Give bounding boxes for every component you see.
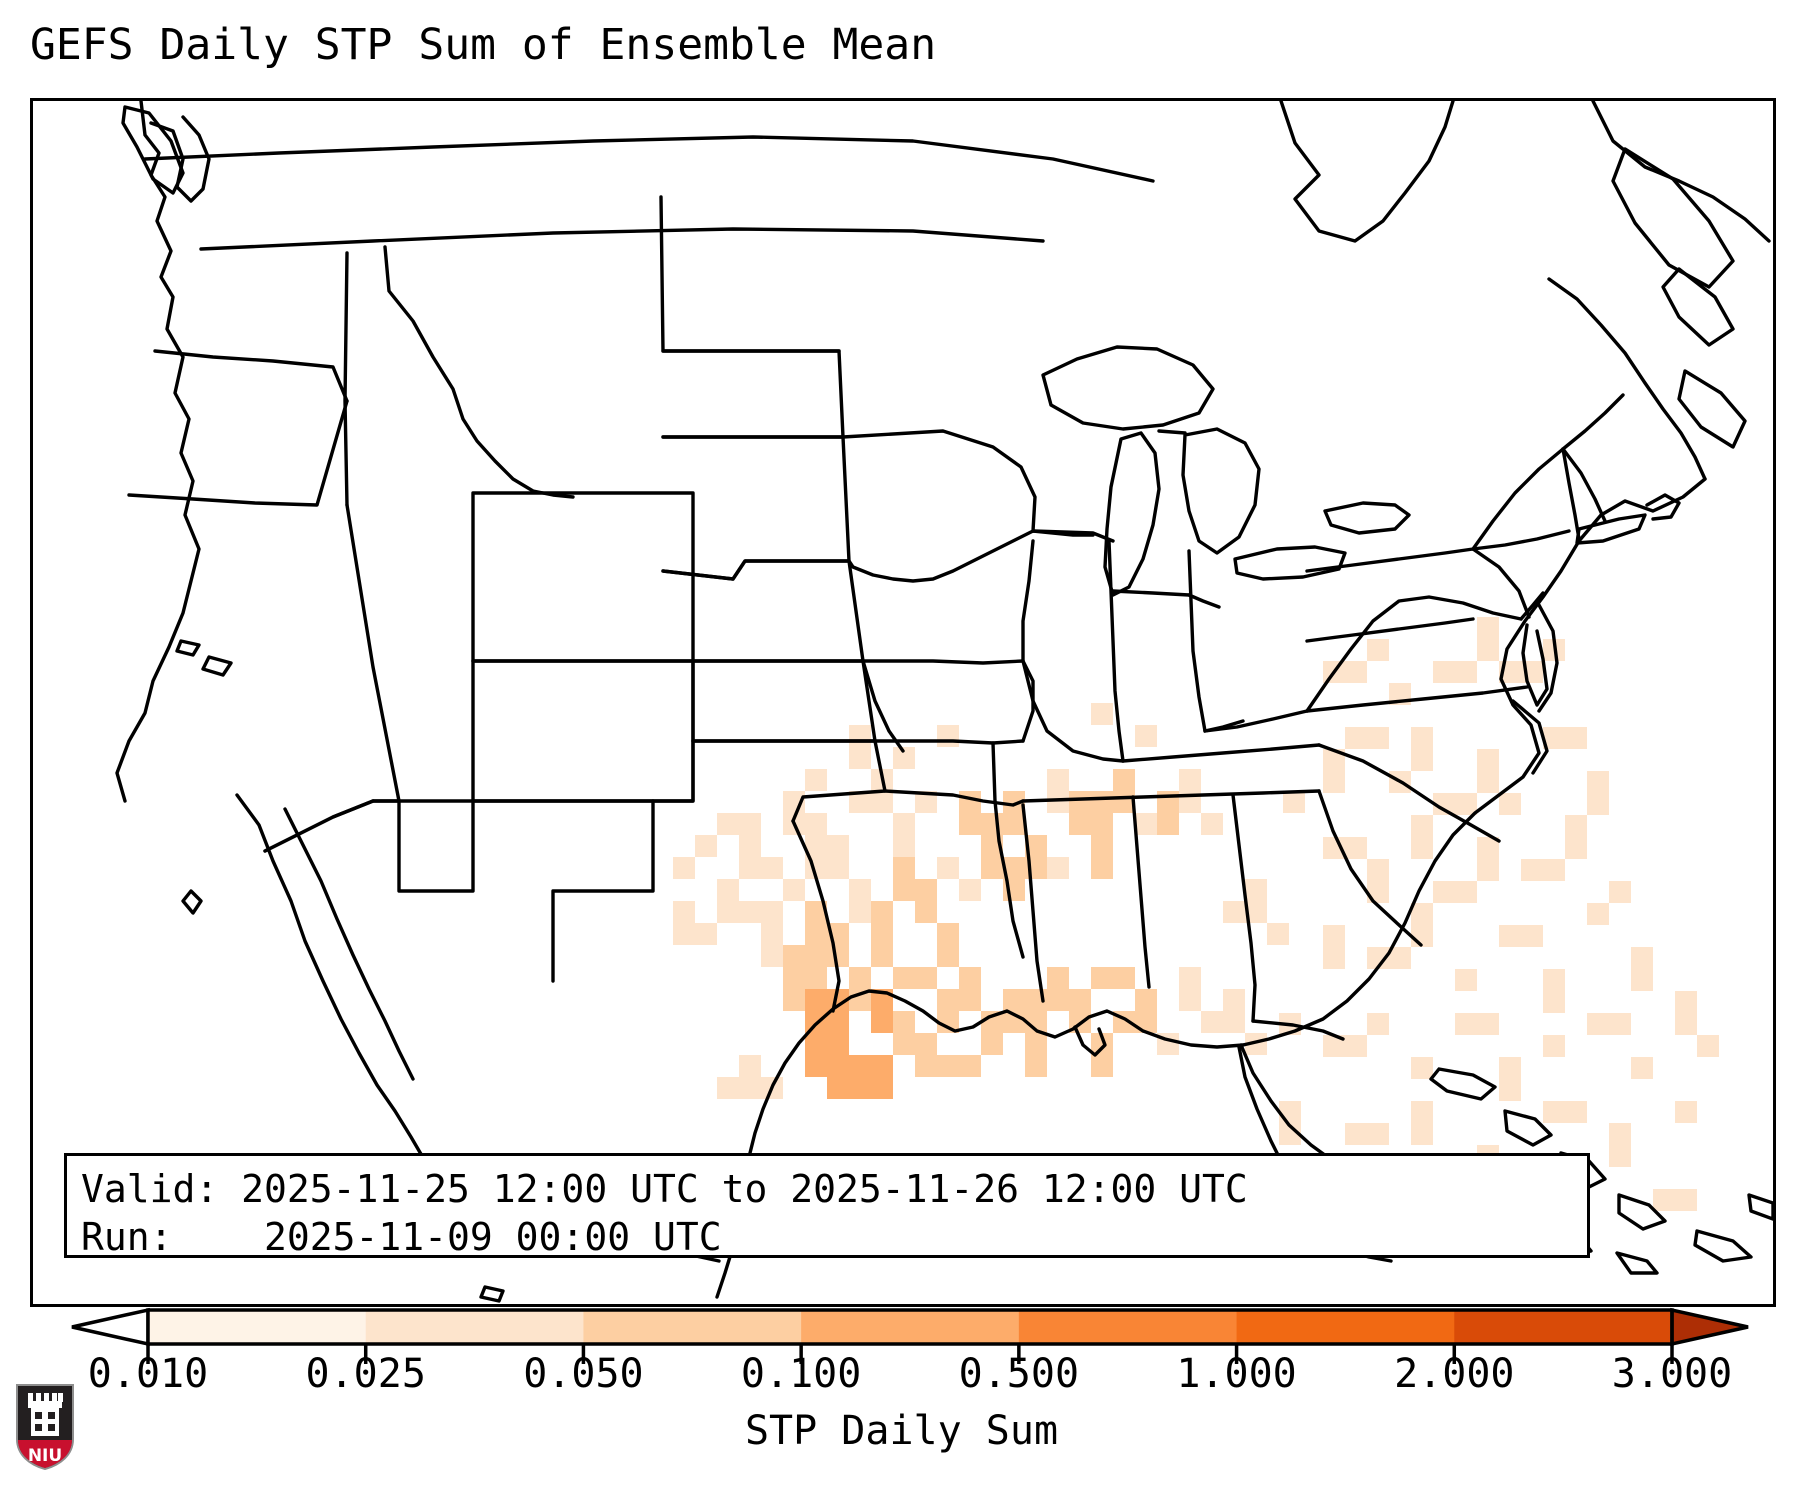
heatmap-cell [915,791,937,813]
heatmap-cell [1697,1035,1719,1057]
heatmap-cell [1367,639,1389,661]
heatmap-cell [1411,903,1433,947]
heatmap-cell [1543,639,1565,661]
heatmap-cell [1047,769,1069,813]
heatmap-cell [1587,903,1609,925]
colorbar-tick-label: 1.000 [1176,1351,1296,1397]
colorbar-axis-label: STP Daily Sum [0,1408,1803,1454]
heatmap-cell [1433,793,1477,815]
colorbar-band [1237,1310,1455,1344]
heatmap-cell [761,923,783,967]
heatmap-cell [673,857,695,879]
heatmap-cell [1609,881,1631,903]
heatmap-cell [1135,725,1157,747]
heatmap-cell [1113,1011,1135,1033]
heatmap-cell [827,835,849,879]
heatmap-cell [1411,727,1433,771]
heatmap-cell [871,989,893,1033]
heatmap-cell [1543,969,1565,1013]
heatmap-cell [1069,989,1091,1033]
heatmap-cell [783,945,827,967]
heatmap-cell [981,813,1003,879]
heatmap-cell [805,901,827,945]
heatmap-cell [1003,989,1047,1033]
heatmap-cell [1279,1101,1301,1145]
heatmap-cell [805,769,827,791]
heatmap-cell [695,923,717,945]
heatmap-cell [1433,881,1477,903]
heatmap-cell [1521,859,1565,881]
heatmap-cell [761,1077,783,1099]
heatmap-cell [783,879,805,901]
heatmap-cell [849,967,871,1011]
heatmap-cell [739,835,761,879]
colorbar-band [1019,1310,1237,1344]
map-clip [33,101,1773,1304]
heatmap-cell [695,835,717,857]
colorbar-tick-label: 0.050 [523,1351,643,1397]
heatmap-cell [937,923,959,967]
heatmap-cell [1653,1189,1697,1211]
heatmap-cell [893,1011,915,1055]
figure-root: GEFS Daily STP Sum of Ensemble Mean [0,0,1803,1500]
heatmap-cell [1411,815,1433,859]
heatmap-cell [937,857,959,879]
heatmap-cell [739,1055,761,1099]
heatmap-cell [1091,967,1135,989]
heatmap-cell [1433,661,1477,683]
colorbar-tick-label: 0.010 [88,1351,208,1397]
heatmap-cell [1047,857,1069,879]
niu-logo-text: NIU [28,1446,62,1466]
heatmap-cell [1455,1013,1499,1035]
heatmap-cell [1587,1013,1631,1035]
heatmap-cell [805,813,827,879]
heatmap-cell [1323,749,1345,793]
heatmap-cell [937,1055,981,1077]
heatmap-cell [1091,835,1113,879]
heatmap-cell [1675,1101,1697,1123]
heatmap-cell [1477,749,1499,793]
heatmap-cell [1091,703,1113,725]
heatmap-cell [1323,1035,1367,1057]
run-time-line: Run: 2025-11-09 00:00 UTC [81,1213,1587,1261]
heatmap-cell [1367,1013,1389,1035]
heatmap-cell [1323,661,1367,683]
heatmap-cell [805,1033,827,1077]
heatmap-cell [1367,947,1411,969]
heatmap-cell [1499,793,1521,815]
heatmap-cell [717,879,739,923]
heatmap-cell [1091,1033,1113,1077]
heatmap-cell [739,901,783,923]
colorbar-tick-label: 3.000 [1612,1351,1732,1397]
heatmap-cell [1389,771,1411,793]
heatmap-cell [849,879,871,923]
heatmap-cell [1565,815,1587,859]
heatmap-cell [1113,769,1135,813]
heatmap-cell [1245,879,1267,923]
colorbar-band [366,1310,584,1344]
colorbar-tick-label: 2.000 [1394,1351,1514,1397]
heatmap-cell [827,1011,849,1055]
heatmap-cell [1223,989,1245,1033]
heatmap-cell [1025,1033,1047,1077]
heatmap-cell [827,1055,871,1099]
heatmap-cell [1157,1033,1179,1055]
heatmap-cell [827,923,849,967]
colorbar-band [801,1310,1019,1344]
heatmap-cell [959,879,981,901]
heatmap-cell [1003,791,1025,835]
heatmap-cell [893,813,915,857]
heatmap-cell [893,747,915,769]
heatmap-cell [1223,901,1245,923]
heatmap-cell [893,967,937,989]
heatmap-cell [937,989,959,1033]
colorbar-band [148,1310,366,1344]
heatmap-cell [915,879,937,923]
heatmap-cell [1543,727,1587,749]
heatmap-cell [1047,967,1069,1011]
heatmap-cell [1283,791,1305,813]
heatmap-cell [1543,1101,1587,1123]
heatmap-cell [717,813,761,835]
heatmap-cell [1323,925,1345,969]
heatmap-cell [1455,969,1477,991]
heatmap-cell [937,725,959,747]
colorbar-tick-label: 0.500 [959,1351,1079,1397]
heatmap-cell [1631,1057,1653,1079]
heatmap-cell [1543,1035,1565,1057]
heatmap-cell [1389,683,1411,705]
colorbar-band [1454,1310,1672,1344]
colorbar-over-arrow [1672,1310,1748,1344]
heatmap-cell [1025,835,1047,879]
heatmap-cell [1267,923,1289,945]
heatmap-cell [783,791,805,835]
heatmap-cell [871,1055,893,1099]
heatmap-cell [1631,947,1653,991]
niu-logo: NIU [14,1381,76,1471]
colorbar-under-arrow [72,1310,148,1344]
forecast-info-box: Valid: 2025-11-25 12:00 UTC to 2025-11-2… [64,1153,1590,1258]
figure-title: GEFS Daily STP Sum of Ensemble Mean [30,16,936,74]
heatmap-cell [1499,1057,1521,1101]
heatmap-cell [849,791,871,813]
heatmap-cell [1411,1101,1433,1145]
heatmap-cell [673,901,695,945]
heatmap-cell [1135,989,1157,1033]
heatmap-cell [871,769,893,813]
heatmap-cell [1411,1057,1433,1079]
heatmap-cell [1135,813,1157,835]
heatmap-cell [761,857,783,879]
heatmap-cell [1323,837,1367,859]
heatmap-cell [1675,991,1697,1035]
colorbar-swatches[interactable] [0,1307,1803,1417]
heatmap-cell [871,901,893,967]
heatmap-cell [1279,1013,1301,1035]
colorbar-tick-label: 0.025 [305,1351,425,1397]
heatmap-cell [1157,791,1179,835]
heatmap-cell [1003,857,1025,901]
heatmap-cell [1201,813,1223,835]
heatmap-cell [1499,661,1543,683]
heatmap-cell [1345,727,1389,749]
valid-time-line: Valid: 2025-11-25 12:00 UTC to 2025-11-2… [81,1165,1587,1213]
colorbar-area[interactable]: 0.0100.0250.0500.1000.5001.0002.0003.000… [0,1307,1803,1500]
map-panel[interactable]: Valid: 2025-11-25 12:00 UTC to 2025-11-2… [30,98,1776,1307]
heatmap-cell [959,791,981,835]
heatmap-cell [1477,617,1499,661]
heatmap-cell [893,857,915,901]
heatmap-cell [1587,771,1609,815]
heatmap-cell [1179,769,1201,813]
heatmap-cell [1609,1123,1631,1167]
colorbar-tick-label: 0.100 [741,1351,861,1397]
colorbar-band [583,1310,801,1344]
heatmap-cell [1179,967,1201,1011]
heatmap-cell [1367,859,1389,903]
stp-data-heatmap [33,101,1773,1304]
heatmap-cell [1499,925,1543,947]
heatmap-cell [1069,791,1113,835]
heatmap-cell [717,1077,739,1099]
heatmap-cell [1345,1123,1389,1145]
heatmap-cell [849,725,871,769]
heatmap-cell [915,1033,937,1077]
heatmap-cell [1245,1033,1267,1055]
heatmap-cell [1477,837,1499,881]
heatmap-cell [981,1011,1003,1055]
heatmap-cell [959,967,981,1011]
